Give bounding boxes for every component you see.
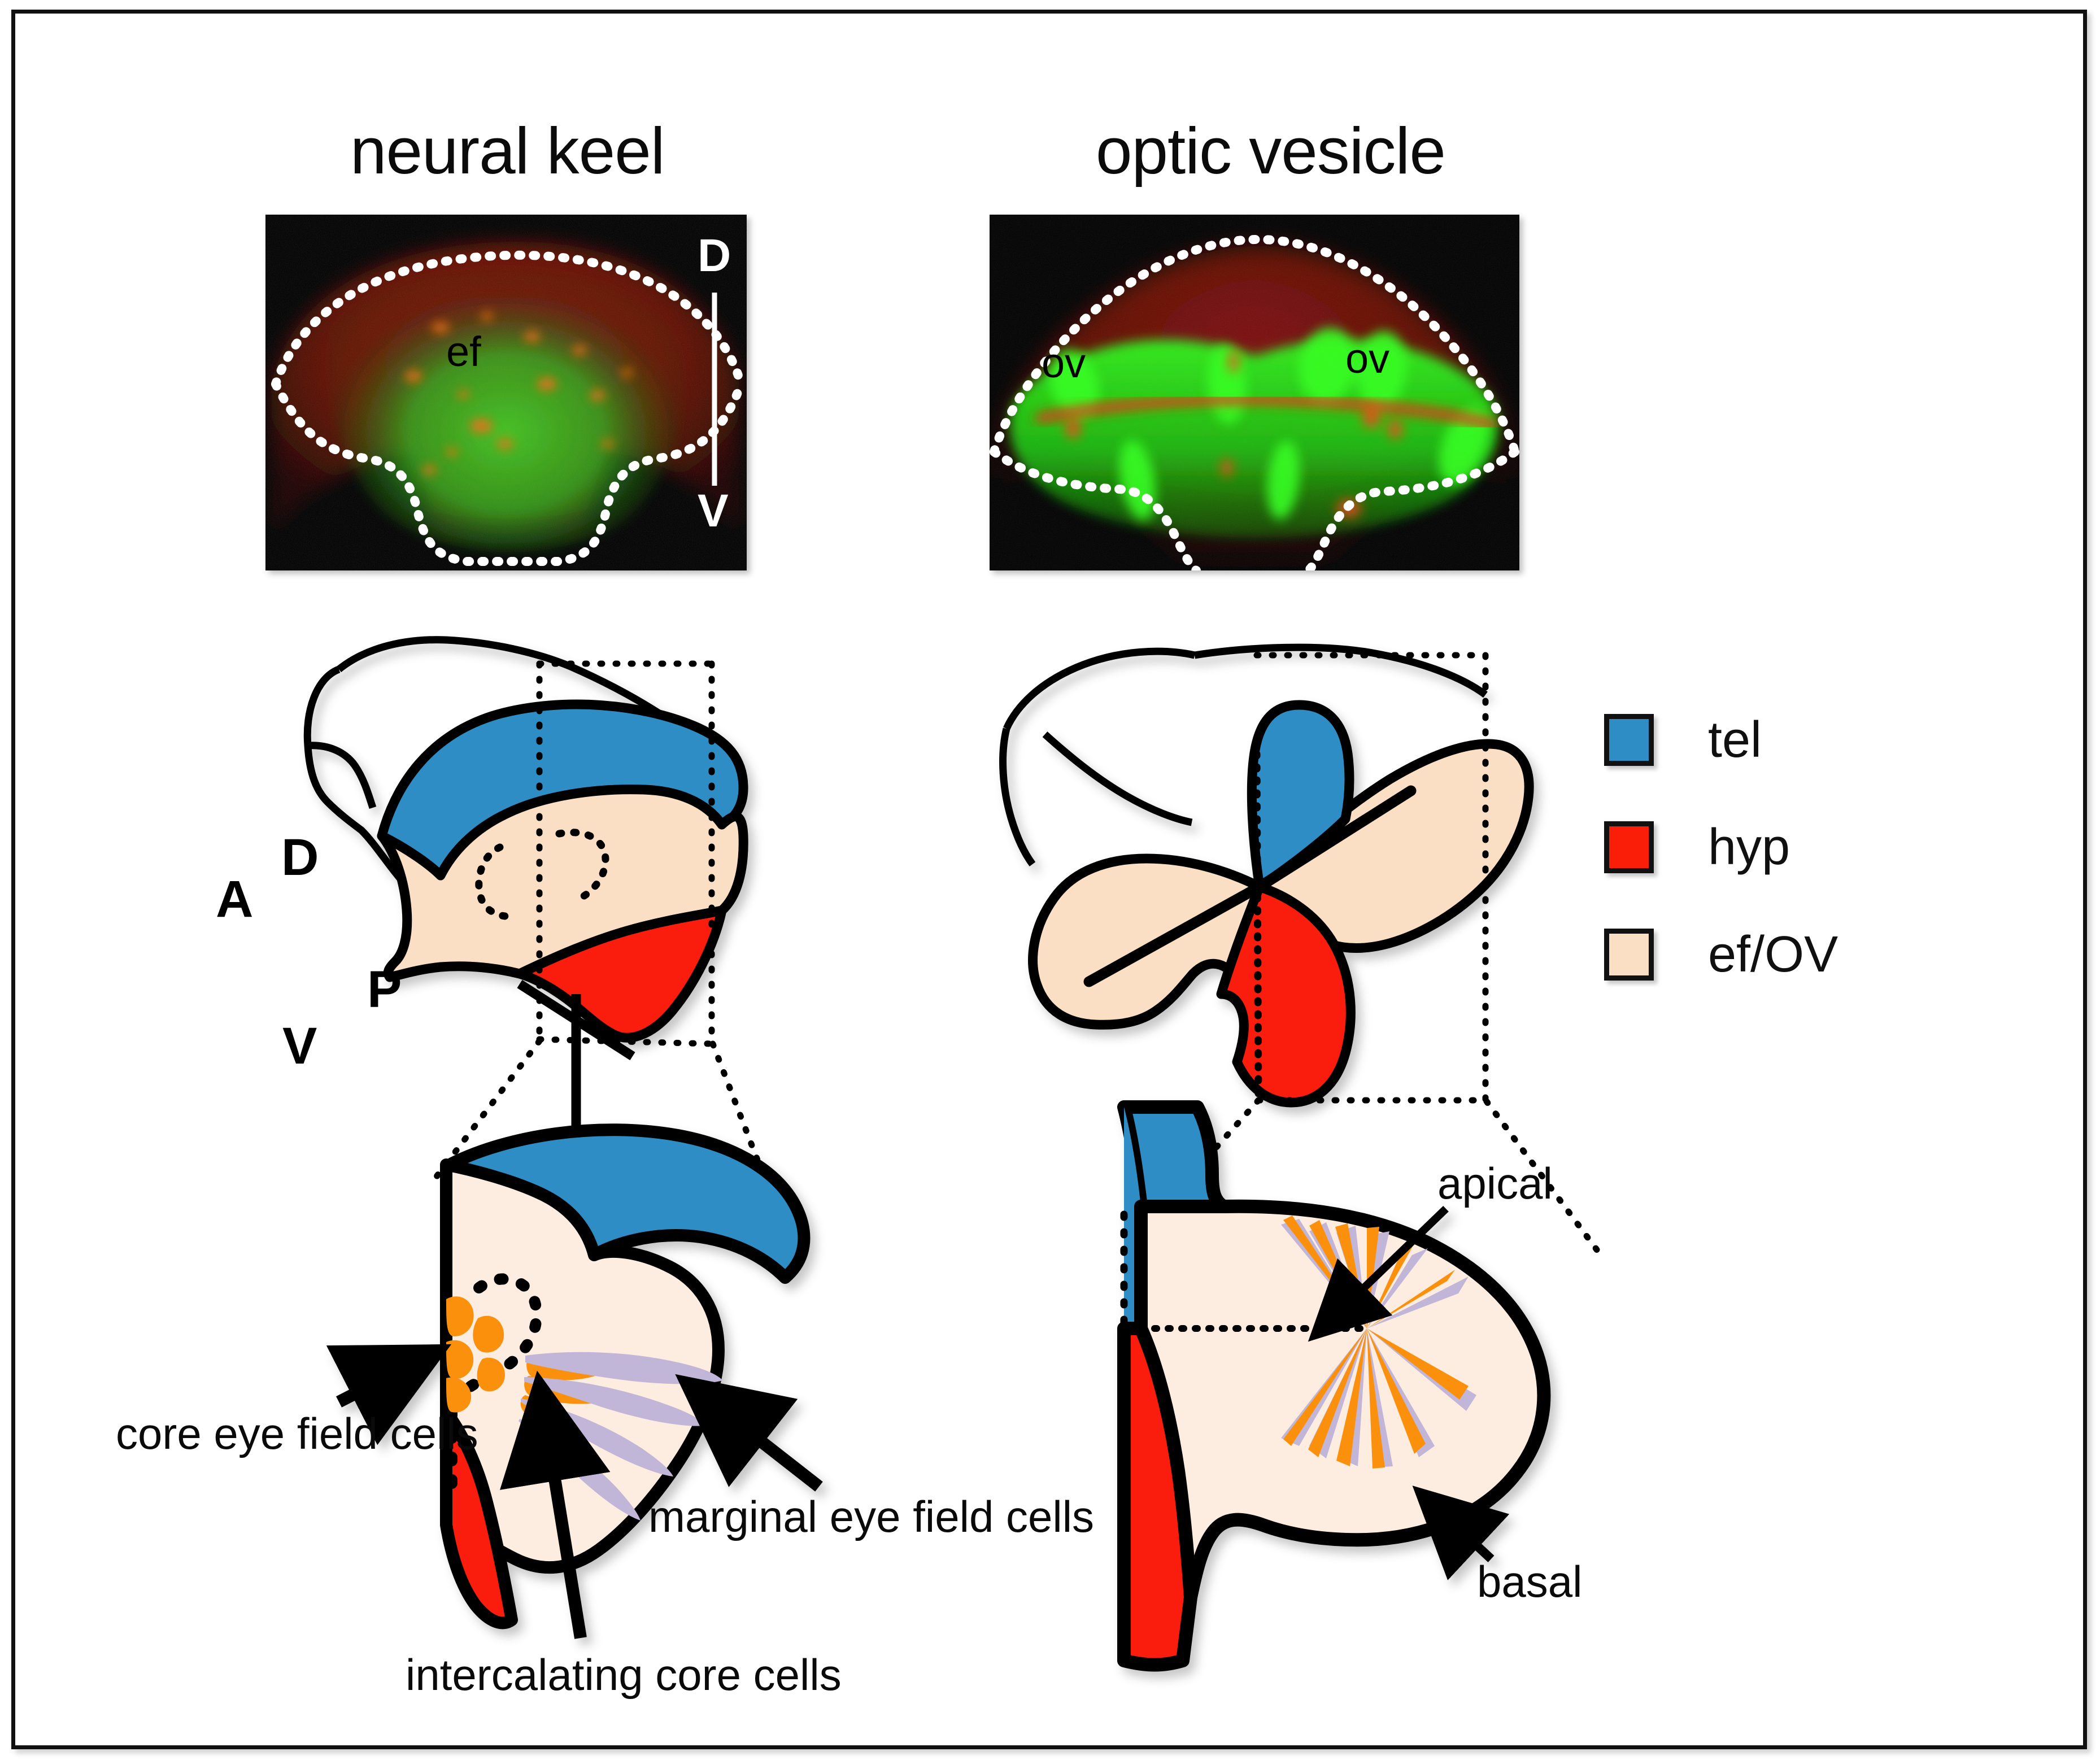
legend-label-hyp: hyp bbox=[1708, 818, 1790, 877]
legend-swatch-ef-ov bbox=[1604, 929, 1654, 981]
column-title-neural-keel: neural keel bbox=[350, 113, 664, 189]
legend-item-tel: tel bbox=[1604, 686, 1838, 794]
micrograph-optic-vesicle-image bbox=[990, 215, 1519, 570]
axis-label-dorsal-left: D bbox=[698, 229, 731, 282]
figure-root: neural keel optic vesicle bbox=[0, 0, 2100, 1760]
micrograph-label-ef: ef bbox=[446, 328, 481, 376]
compass-label-dorsal: D bbox=[281, 828, 319, 887]
legend-label-ef-ov: ef/OV bbox=[1708, 926, 1838, 984]
micrograph-label-ov-right: ov bbox=[1345, 334, 1389, 382]
compass-label-ventral: V bbox=[282, 1017, 317, 1076]
callout-basal: basal bbox=[1477, 1556, 1582, 1607]
micrograph-neural-keel: ef D V bbox=[265, 215, 747, 570]
micrograph-label-ov-left: ov bbox=[1042, 339, 1086, 387]
callout-core-eye-field-cells: core eye field cells bbox=[116, 1408, 478, 1460]
compass-label-posterior: P bbox=[367, 960, 402, 1020]
legend-item-ef-ov: ef/OV bbox=[1604, 901, 1838, 1008]
callout-marginal-eye-field-cells: marginal eye field cells bbox=[648, 1491, 1094, 1543]
callout-intercalating-core-cells: intercalating core cells bbox=[406, 1649, 842, 1701]
region-color-legend: tel hyp ef/OV bbox=[1604, 686, 1838, 1008]
compass-label-anterior: A bbox=[216, 870, 253, 929]
legend-item-hyp: hyp bbox=[1604, 794, 1838, 901]
legend-swatch-hyp bbox=[1604, 821, 1654, 873]
axis-label-ventral-left: V bbox=[698, 485, 729, 538]
column-title-optic-vesicle: optic vesicle bbox=[1096, 113, 1445, 189]
micrograph-neural-keel-image bbox=[265, 215, 747, 570]
callout-apical: apical bbox=[1437, 1158, 1553, 1209]
legend-swatch-tel bbox=[1604, 714, 1654, 766]
legend-label-tel: tel bbox=[1708, 711, 1762, 769]
micrograph-optic-vesicle: ov ov bbox=[990, 215, 1519, 570]
